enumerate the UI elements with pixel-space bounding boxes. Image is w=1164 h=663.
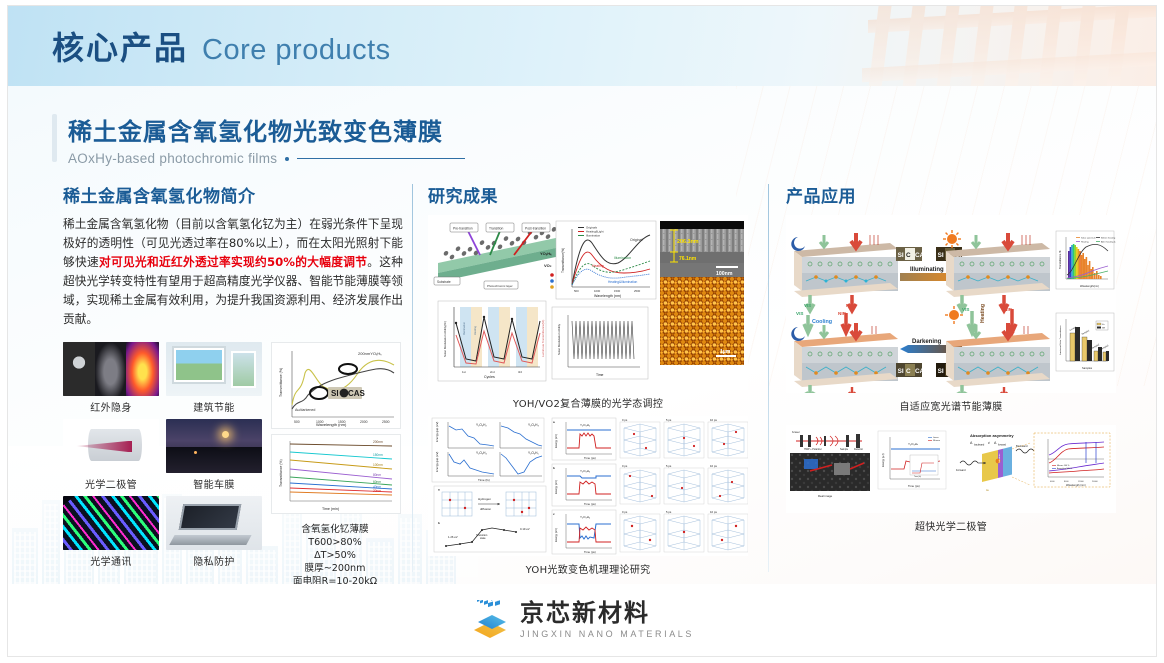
svg-text:Time (min): Time (min) xyxy=(322,507,339,511)
svg-text:NIR: NIR xyxy=(1004,307,1013,312)
section-heading: 稀土金属含氧氢化物光致变色薄膜 AOxHy-based photochromic… xyxy=(52,112,465,166)
heating-label: Heating xyxy=(980,304,986,323)
svg-text:Mirrors 100 %: Mirrors 100 % xyxy=(1057,465,1070,467)
svg-text:SI: SI xyxy=(898,368,904,375)
application-figure-1-caption: 自适应宽光谱节能薄膜 xyxy=(786,398,1116,413)
svg-text:200nm: 200nm xyxy=(373,440,383,444)
intro-paragraph: 稀土金属含氧氢化物（目前以含氧氢化钇为主）在弱光条件下呈现极好的透明性（可见光透… xyxy=(63,215,403,329)
svg-text:Energy (eV): Energy (eV) xyxy=(554,434,558,448)
svg-text:Y₂O₃H₄: Y₂O₃H₄ xyxy=(580,515,591,519)
svg-text:60nm: 60nm xyxy=(373,480,381,484)
svg-text:Solar spectrum: Solar spectrum xyxy=(1081,236,1096,239)
svg-text:Transmittance(%): Transmittance(%) xyxy=(561,248,565,273)
svg-text:Illumination: Illumination xyxy=(462,321,466,335)
svg-text:10 ps: 10 ps xyxy=(710,464,717,468)
slide-footer: 京芯新材料 JINGXIN NANO MATERIALS xyxy=(8,584,1156,656)
svg-text:Transmittance (%): Transmittance (%) xyxy=(279,459,283,487)
column-intro: 稀土金属含氧氢化物简介 稀土金属含氧氢化物（目前以含氧氢化钇为主）在弱光条件下呈… xyxy=(63,182,403,340)
company-name-en: JINGXIN NANO MATERIALS xyxy=(520,630,694,639)
svg-text:Samples: Samples xyxy=(1082,366,1093,370)
application-caption: 隐私防护 xyxy=(166,553,262,568)
svg-text:Illumination: Illumination xyxy=(614,256,631,260)
svg-text:Heating: Heating xyxy=(473,326,477,335)
svg-text:VIS: VIS xyxy=(804,303,811,308)
svg-text:Y₂O₃Hₖ: Y₂O₃Hₖ xyxy=(908,442,919,446)
sem-thickness-top: 206.3nm xyxy=(677,239,699,245)
svg-text:Photochromic layer: Photochromic layer xyxy=(487,284,513,288)
transmittance-spectrum-chart: SI CAS 200nmYOₓHₖ Au/darkened Wavelength… xyxy=(271,342,401,429)
afm-scalebar: 1μm xyxy=(720,349,731,355)
svg-text:Time (ps): Time (ps) xyxy=(584,456,596,460)
svg-text:NIR: NIR xyxy=(846,303,854,308)
svg-text:Hydrogen: Hydrogen xyxy=(478,497,491,501)
svg-text:Time (ps): Time (ps) xyxy=(584,502,596,506)
section-rule xyxy=(297,158,465,159)
svg-text:Y₂O₃H₅: Y₂O₃H₅ xyxy=(528,451,539,455)
svg-text:Y₂O₃H₃: Y₂O₃H₃ xyxy=(528,423,539,427)
svg-text:Wavelength (nm): Wavelength (nm) xyxy=(594,294,621,298)
svg-text:Cycles: Cycles xyxy=(484,375,495,379)
svg-text:500: 500 xyxy=(574,289,579,293)
privacy-protection-image xyxy=(166,496,262,550)
svg-text:0 ps: 0 ps xyxy=(622,418,628,422)
intro-highlight: 对可见光和近红外透过率实现约50%的大幅度调节 xyxy=(99,255,367,269)
svg-text:VIS: VIS xyxy=(796,311,803,316)
application-figure-2: fs laser HWP + Polarizer Sample Detector… xyxy=(786,425,1116,533)
application-item: 光学通讯 xyxy=(63,496,159,568)
svg-text:150nm: 150nm xyxy=(373,453,383,457)
svg-text:Luminous Transmittance(%): Luminous Transmittance(%) xyxy=(541,320,545,357)
infrared-stealth-image xyxy=(63,342,159,396)
column-divider-right xyxy=(768,184,769,572)
svg-text:Time (ps): Time (ps) xyxy=(908,484,920,488)
spec-line: ΔT>50% xyxy=(271,549,399,562)
spec-line: 含氧氢化钇薄膜 xyxy=(271,523,399,536)
svg-text:Energy gap (eV): Energy gap (eV) xyxy=(435,452,439,472)
svg-text:SI: SI xyxy=(898,252,904,259)
column-research-title: 研究成果 xyxy=(428,182,748,207)
building-energy-image xyxy=(166,342,262,396)
svg-text:b: b xyxy=(553,466,555,470)
company-logo-icon xyxy=(470,600,510,640)
svg-text:80nm: 80nm xyxy=(373,473,381,477)
svg-text:backward: backward xyxy=(974,444,985,447)
svg-text:Heating: Heating xyxy=(592,264,604,268)
slide-frame: 核心产品 Core products xyxy=(8,6,1156,656)
svg-text:200nmYOₓHₖ: 200nmYOₓHₖ xyxy=(358,351,382,356)
illuminating-label: Illuminating xyxy=(910,267,944,273)
svg-text:Energy (eV): Energy (eV) xyxy=(554,480,558,494)
svg-text:SI: SI xyxy=(938,368,944,375)
application-item: 建筑节能 xyxy=(166,342,262,414)
research-figure-2-caption: YOH光致变色机理理论研究 xyxy=(428,561,748,576)
svg-text:Y₂O₃H₄: Y₂O₃H₄ xyxy=(476,451,487,455)
svg-text:YOₓHₖ: YOₓHₖ xyxy=(540,251,552,256)
svg-text:Pre-transition: Pre-transition xyxy=(453,227,473,231)
svg-text:Heating&Illumination: Heating&Illumination xyxy=(608,280,637,284)
svg-text:Sample: Sample xyxy=(840,448,849,451)
svg-text:100nm: 100nm xyxy=(373,463,383,467)
svg-text:fs laser: fs laser xyxy=(792,431,800,434)
svg-text:Original: Original xyxy=(630,238,643,242)
section-title-cn: 稀土金属含氧氢化物光致变色薄膜 xyxy=(68,112,465,147)
svg-text:Transition: Transition xyxy=(489,227,504,231)
svg-text:NIR: NIR xyxy=(838,311,847,316)
application-figure-1: VIS NIR SI C CAS SI C CAS xyxy=(786,215,1116,413)
spec-line: T600>80% xyxy=(271,536,399,549)
svg-text:Vis: Vis xyxy=(1102,324,1105,326)
intro-lower-area: 红外隐身 建筑节能 光学二极管 xyxy=(63,342,403,601)
company-name-cn: 京芯新材料 xyxy=(520,601,694,625)
svg-text:VIS: VIS xyxy=(962,307,969,312)
svg-text:Y₂O₃H₂: Y₂O₃H₂ xyxy=(476,423,487,427)
application-caption: 光学通讯 xyxy=(63,553,159,568)
svg-text:Time: Time xyxy=(596,373,604,377)
svg-text:C: C xyxy=(906,368,911,375)
svg-text:1500: 1500 xyxy=(614,289,621,293)
application-item: 红外隐身 xyxy=(63,342,159,414)
svg-text:2000: 2000 xyxy=(360,420,368,424)
svg-text:Energy gap (eV): Energy gap (eV) xyxy=(435,422,439,442)
page-title: 核心产品 Core products xyxy=(52,23,391,69)
column-research: 研究成果 xyxy=(428,182,748,576)
application-item: 光学二极管 xyxy=(63,419,159,491)
svg-text:Y₂O₃H₂: Y₂O₃H₂ xyxy=(580,423,591,427)
cooling-label: Cooling xyxy=(812,319,832,325)
svg-text:Time (ps): Time (ps) xyxy=(584,550,596,554)
svg-text:Linear: Linear xyxy=(933,437,939,439)
svg-text:Solar Modulation Ability: Solar Modulation Ability xyxy=(557,323,561,355)
svg-text:Illumination: Illumination xyxy=(586,234,601,238)
page-title-en: Core products xyxy=(202,34,391,67)
sem-scalebar: 100nm xyxy=(716,271,733,277)
svg-text:0 ps: 0 ps xyxy=(622,464,628,468)
svg-text:5 ps: 5 ps xyxy=(666,510,672,514)
research-figure-2: Y₂O₃H₂Y₂O₃H₃ Y₂O₃H₄Y₂O₃H₅ Time (fs) Ener… xyxy=(428,416,748,576)
svg-text:Luminous/Solar Transmittance: Luminous/Solar Transmittance xyxy=(1059,325,1062,355)
absorption-asymmetry-label: Absorption asymmetry xyxy=(970,433,1014,438)
application-caption: 光学二极管 xyxy=(63,476,159,491)
spec-line: 膜厚~200nm xyxy=(271,562,399,575)
column-intro-title: 稀土金属含氧氢化物简介 xyxy=(63,182,403,207)
sem-thickness-bottom: 76.1nm xyxy=(679,256,697,262)
svg-text:1st: 1st xyxy=(462,370,466,374)
svg-text:state: state xyxy=(480,536,486,540)
svg-text:3rd: 3rd xyxy=(518,370,522,374)
application-caption: 建筑节能 xyxy=(166,399,262,414)
section-rule-dot xyxy=(285,157,289,161)
svg-text:Substrate: Substrate xyxy=(998,453,1001,463)
optical-diode-image xyxy=(63,419,159,473)
svg-text:CAS: CAS xyxy=(915,252,929,259)
svg-text:≠: ≠ xyxy=(988,441,990,445)
svg-text:Transmittance /%: Transmittance /% xyxy=(1059,250,1062,269)
svg-text:Time (fs): Time (fs) xyxy=(478,478,490,482)
svg-text:1500: 1500 xyxy=(338,420,346,424)
svg-text:forward: forward xyxy=(998,444,1007,447)
application-caption: 红外隐身 xyxy=(63,399,159,414)
svg-text:5 ps: 5 ps xyxy=(666,464,672,468)
colonnade-watermark xyxy=(856,6,1156,86)
application-caption: 智能车膜 xyxy=(166,476,262,491)
svg-text:Au/darkened: Au/darkened xyxy=(295,408,315,412)
svg-text:2500: 2500 xyxy=(634,289,641,293)
svg-text:Wavelength(nm): Wavelength(nm) xyxy=(1080,284,1099,288)
svg-text:1000: 1000 xyxy=(594,289,601,293)
svg-text:Post-transition: Post-transition xyxy=(525,227,546,231)
svg-text:After heating & Light: After heating & Light xyxy=(1101,240,1116,243)
svg-text:NLinear: NLinear xyxy=(933,440,940,442)
section-accent-bar xyxy=(52,114,57,162)
research-figure-1: Pre-transition Transition Post-transitio… xyxy=(428,215,748,410)
svg-text:Substrate: Substrate xyxy=(437,280,451,284)
svg-text:Energy (eV): Energy (eV) xyxy=(554,528,558,542)
column-applications-title: 产品应用 xyxy=(786,182,1116,207)
spec-panel: SI CAS 200nmYOₓHₖ Au/darkened Wavelength… xyxy=(271,342,399,601)
svg-text:CAS: CAS xyxy=(915,368,929,375)
svg-text:Forward: Forward xyxy=(956,468,966,472)
application-item: 隐私防护 xyxy=(166,496,262,568)
time-decay-chart: 200nm 150nm 100nm 80nm 60nm 40nm 20nm Ti… xyxy=(271,434,401,514)
svg-text:diffusion: diffusion xyxy=(480,507,491,511)
svg-text:Backward: Backward xyxy=(1016,444,1028,448)
svg-text:1000: 1000 xyxy=(316,420,324,424)
svg-text:Heating: Heating xyxy=(1081,240,1089,243)
research-figure-1-caption: YOH/VO2复合薄膜的光学态调控 xyxy=(428,395,748,410)
application-figure-2-caption: 超快光学二极管 xyxy=(786,518,1116,533)
svg-text:Before heating: Before heating xyxy=(1101,236,1116,239)
svg-text:20000: 20000 xyxy=(1092,481,1098,483)
slide-header: 核心产品 Core products xyxy=(8,6,1156,86)
svg-text:Transmittance (%): Transmittance (%) xyxy=(279,368,283,397)
svg-text:12000: 12000 xyxy=(1078,481,1084,483)
slide-root: 核心产品 Core products xyxy=(0,0,1164,663)
svg-text:b: b xyxy=(438,521,440,525)
svg-text:HWP + Polarizer: HWP + Polarizer xyxy=(804,448,822,451)
svg-text:Y₂O₃H₃: Y₂O₃H₃ xyxy=(580,469,591,473)
company-logo-text: 京芯新材料 JINGXIN NANO MATERIALS xyxy=(520,601,694,639)
svg-text:2nd: 2nd xyxy=(490,370,495,374)
application-item: 智能车膜 xyxy=(166,419,262,491)
svg-text:20nm: 20nm xyxy=(373,489,381,493)
svg-text:C: C xyxy=(906,252,911,259)
svg-text:SI: SI xyxy=(331,389,339,398)
svg-text:SI: SI xyxy=(938,252,944,259)
column-divider-left xyxy=(412,184,413,572)
svg-text:2500: 2500 xyxy=(382,420,390,424)
smart-car-film-image xyxy=(166,419,262,473)
svg-text:0 ps: 0 ps xyxy=(622,510,628,514)
svg-text:Time (fs): Time (fs) xyxy=(914,476,921,478)
svg-text:Detector: Detector xyxy=(854,448,863,451)
svg-text:1.26 eV: 1.26 eV xyxy=(448,535,458,539)
svg-text:Real image: Real image xyxy=(818,494,833,498)
darkening-label: Darkening xyxy=(912,339,942,345)
svg-text:VO₂: VO₂ xyxy=(544,263,552,268)
svg-text:CAS: CAS xyxy=(348,389,366,398)
section-title-en: AOxHy-based photochromic films xyxy=(68,151,277,166)
column-applications: 产品应用 xyxy=(786,182,1116,533)
svg-text:Solar Modulation Ability(%): Solar Modulation Ability(%) xyxy=(443,321,447,357)
svg-text:0.19 eV: 0.19 eV xyxy=(520,527,530,531)
optical-communication-image xyxy=(63,496,159,550)
svg-text:500: 500 xyxy=(294,420,300,424)
svg-text:Wavelength (nm): Wavelength (nm) xyxy=(1066,483,1086,487)
svg-text:5 ps: 5 ps xyxy=(666,418,672,422)
page-title-cn: 核心产品 xyxy=(52,23,188,69)
application-grid: 红外隐身 建筑节能 光学二极管 xyxy=(63,342,263,601)
svg-text:Annealing 500 %: Annealing 500 % xyxy=(1057,467,1072,470)
svg-text:10 ps: 10 ps xyxy=(710,418,717,422)
svg-text:10 ps: 10 ps xyxy=(710,510,717,514)
svg-text:Energy (μJ): Energy (μJ) xyxy=(881,453,885,467)
